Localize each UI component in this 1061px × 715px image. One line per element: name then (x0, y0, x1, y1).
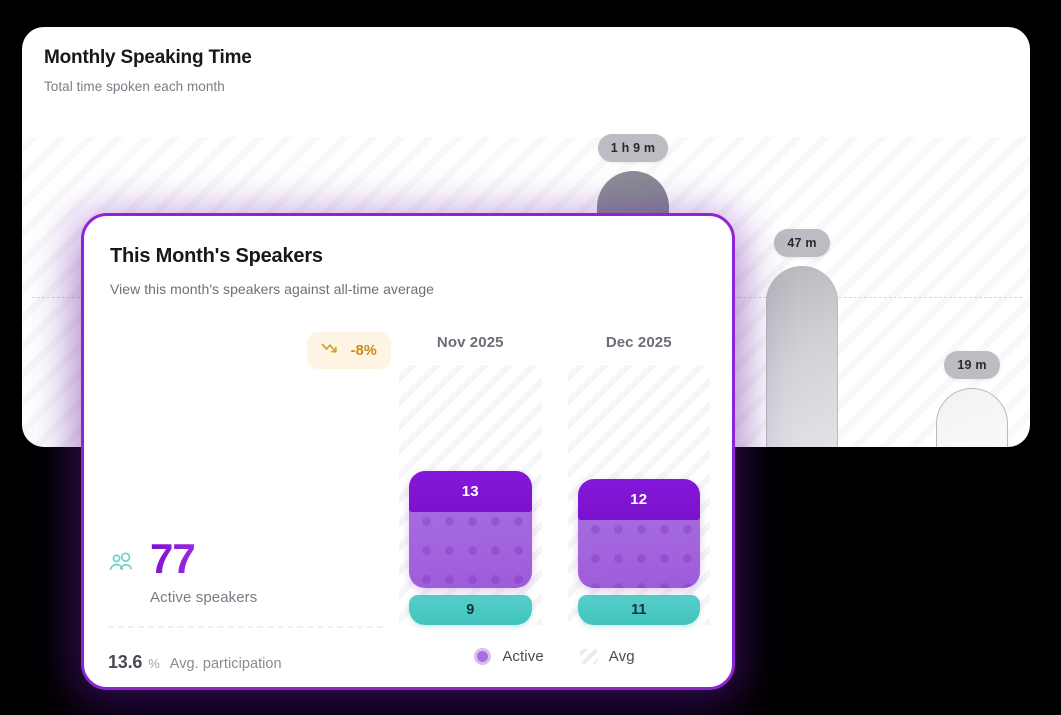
month-label: Nov 2025 (399, 334, 542, 351)
stat-divider (108, 626, 383, 628)
legend-label: Active (502, 648, 543, 665)
trend-badge[interactable]: -8% (307, 332, 391, 369)
active-speakers-label: Active speakers (150, 589, 257, 606)
active-bar[interactable]: 13 (409, 471, 532, 588)
legend-label: Avg (609, 648, 635, 665)
avg-bar[interactable]: 11 (578, 595, 701, 625)
modal-subtitle: View this month's speakers against all-t… (110, 281, 706, 297)
bar-value-pill: 1 h 9 m (598, 134, 668, 162)
speakers-chart: Nov 2025 13 9 (399, 312, 732, 687)
back-card-header: Monthly Speaking Time Total time spoken … (44, 47, 1010, 94)
month-column[interactable]: Dec 2025 12 11 (568, 334, 711, 625)
avg-participation-label: Avg. participation (170, 656, 282, 672)
stat-text: 77 Active speakers (150, 539, 257, 606)
active-bar-value: 12 (630, 491, 647, 508)
page-subtitle: Total time spoken each month (44, 79, 1010, 94)
active-bar-cap: 12 (578, 479, 701, 520)
month-column[interactable]: Nov 2025 13 9 (399, 334, 542, 625)
avg-participation-stat: 13.6 % Avg. participation (108, 652, 282, 673)
active-bar-cap: 13 (409, 471, 532, 512)
month-track: 12 11 (568, 365, 711, 625)
month-track: 13 9 (399, 365, 542, 625)
bar-value-pill: 47 m (774, 229, 829, 257)
modal-header: This Month's Speakers View this month's … (84, 216, 732, 297)
avg-participation-value: 13.6 (108, 652, 142, 673)
modal-body: 77 Active speakers -8% 13.6 (84, 312, 732, 687)
this-months-speakers-modal: This Month's Speakers View this month's … (81, 213, 735, 690)
active-speakers-value: 77 (150, 539, 257, 579)
active-bar-value: 13 (462, 483, 479, 500)
legend-swatch-avg-icon (580, 649, 598, 664)
legend-swatch-active-icon (474, 648, 491, 665)
bar-shape (766, 266, 838, 447)
active-speakers-stat: 77 Active speakers (108, 539, 385, 606)
bar-shape (936, 388, 1008, 447)
people-icon (108, 552, 134, 581)
trend-down-icon (321, 341, 343, 360)
screen: Monthly Speaking Time Total time spoken … (0, 0, 1061, 715)
page-title: Monthly Speaking Time (44, 47, 1010, 69)
speaking-bar[interactable]: 19 m (936, 351, 1008, 447)
chart-legend: Active Avg (399, 648, 710, 665)
stats-column: 77 Active speakers -8% 13.6 (84, 312, 399, 687)
bar-value-pill: 19 m (944, 351, 999, 379)
legend-item-active[interactable]: Active (474, 648, 543, 665)
active-bar[interactable]: 12 (578, 479, 701, 588)
month-label: Dec 2025 (568, 334, 711, 351)
avg-participation-unit: % (148, 656, 160, 671)
modal-title: This Month's Speakers (110, 245, 706, 268)
avg-bar-value: 11 (631, 602, 646, 618)
avg-bar-value: 9 (466, 602, 474, 618)
avg-bar[interactable]: 9 (409, 595, 532, 625)
trend-value: -8% (351, 343, 377, 359)
legend-item-avg[interactable]: Avg (580, 648, 635, 665)
chart-columns: Nov 2025 13 9 (399, 334, 710, 625)
speaking-bar[interactable]: 47 m (766, 229, 838, 447)
